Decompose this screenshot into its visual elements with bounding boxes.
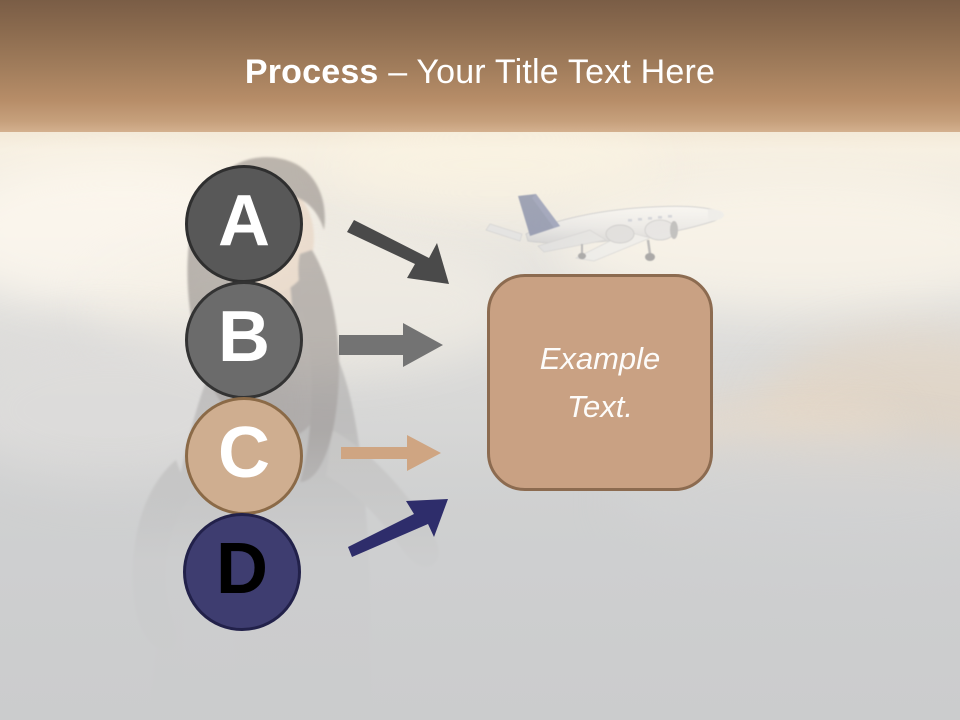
step-circle-c[interactable]: C — [185, 397, 303, 515]
result-box-line-1: Example — [540, 335, 661, 383]
arrow-b[interactable] — [339, 323, 443, 367]
page-title-rest: – Your Title Text Here — [379, 53, 716, 91]
page-title: Process – Your Title Text Here — [0, 52, 960, 92]
step-circle-a[interactable]: A — [185, 165, 303, 283]
step-circle-b-label: B — [218, 301, 270, 373]
arrow-a[interactable] — [345, 218, 455, 290]
page-title-strong: Process — [245, 53, 379, 91]
arrow-d[interactable] — [348, 497, 452, 559]
airplane-image — [478, 178, 728, 278]
step-circle-c-label: C — [218, 417, 270, 489]
step-circle-a-label: A — [218, 185, 270, 257]
result-box-line-2: Text. — [567, 383, 633, 431]
step-circle-d-label: D — [216, 533, 268, 605]
title-bar: Process – Your Title Text Here — [0, 0, 960, 132]
slide-canvas: Process – Your Title Text Here A B C D E… — [0, 0, 960, 720]
step-circle-d[interactable]: D — [183, 513, 301, 631]
bottom-haze — [0, 430, 960, 720]
step-circle-b[interactable]: B — [185, 281, 303, 399]
arrow-c[interactable] — [341, 435, 441, 471]
result-box[interactable]: Example Text. — [487, 274, 713, 491]
